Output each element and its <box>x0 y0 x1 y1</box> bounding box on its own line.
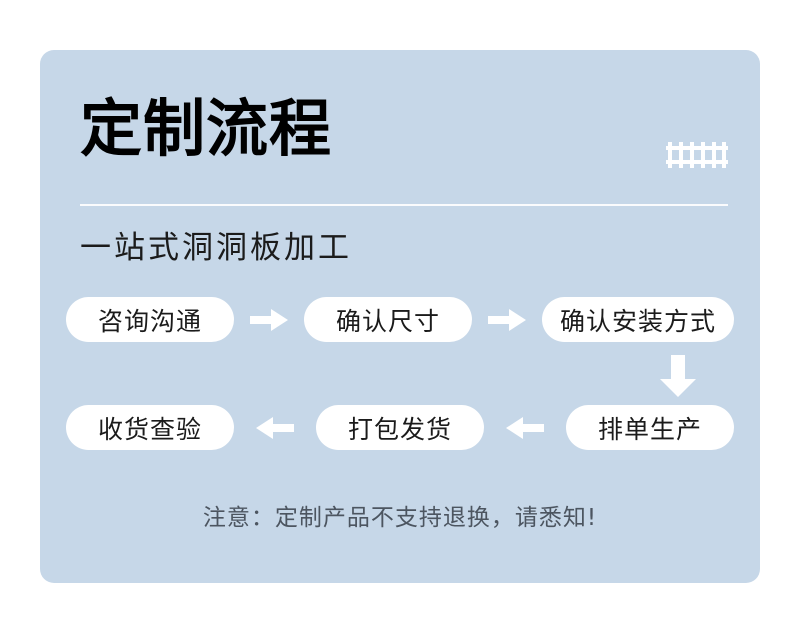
flow-step-label: 收货查验 <box>98 410 202 446</box>
flow-step-label: 咨询沟通 <box>98 302 202 338</box>
page-title: 定制流程 <box>80 98 728 160</box>
flow-step-label: 排单生产 <box>598 410 702 446</box>
arrow-left-icon <box>254 415 296 441</box>
arrow-right-icon <box>248 307 290 333</box>
arrow-left-icon <box>504 415 546 441</box>
header-divider <box>80 204 728 206</box>
flow-step-production[interactable]: 排单生产 <box>566 405 734 450</box>
ladder-track-icon <box>666 142 728 168</box>
flow-step-consult[interactable]: 咨询沟通 <box>66 297 234 342</box>
flow-row-top: 咨询沟通 确认尺寸 确认安装方式 <box>66 297 734 342</box>
card-header: 定制流程 <box>80 98 728 160</box>
flow-step-label: 确认尺寸 <box>336 302 440 338</box>
page-subtitle: 一站式洞洞板加工 <box>80 222 352 267</box>
flow-step-confirm-install[interactable]: 确认安装方式 <box>542 297 734 342</box>
flow-step-label: 打包发货 <box>348 410 452 446</box>
arrow-down-icon <box>660 355 696 397</box>
flow-step-pack-ship[interactable]: 打包发货 <box>316 405 484 450</box>
flow-step-label: 确认安装方式 <box>560 302 716 338</box>
arrow-right-icon <box>486 307 528 333</box>
flow-row-bottom: 收货查验 打包发货 排单生产 <box>66 405 734 450</box>
custom-process-card: 定制流程 一站式洞洞板加工 咨询沟通 确认尺寸 <box>40 50 760 583</box>
footer-note: 注意：定制产品不支持退换，请悉知! <box>40 498 760 532</box>
flow-step-receive-inspect[interactable]: 收货查验 <box>66 405 234 450</box>
flow-step-confirm-size[interactable]: 确认尺寸 <box>304 297 472 342</box>
